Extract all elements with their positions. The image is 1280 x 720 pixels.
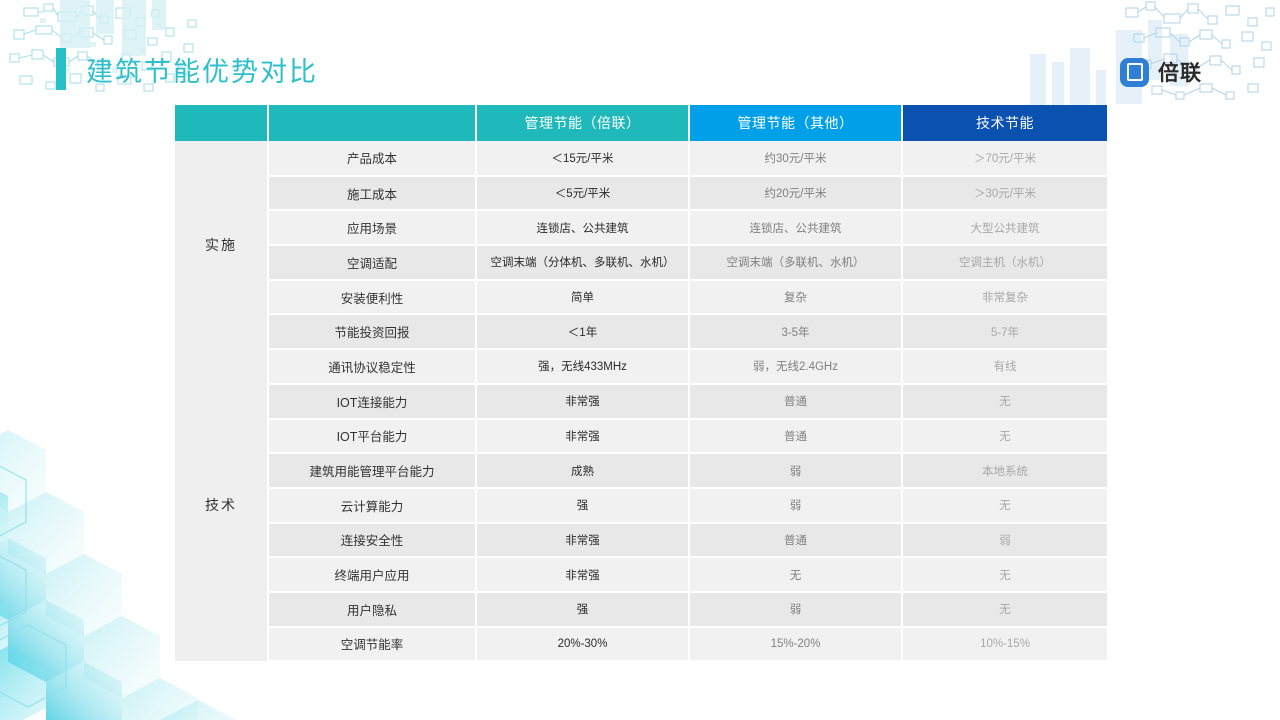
cell-technical: 5-7年 [902,314,1107,349]
cell-technical: 大型公共建筑 [902,210,1107,245]
cell-technical: 无 [902,488,1107,523]
cell-other: 约20元/平米 [689,176,902,211]
table-row: 实施 产品成本 ＜15元/平米 约30元/平米 ＞70元/平米 [175,141,1107,176]
cell-other: 无 [689,557,902,592]
cell-beilian: 非常强 [476,523,689,558]
row-item-label: 连接安全性 [268,523,476,558]
row-item-label: 用户隐私 [268,592,476,627]
row-item-label: 空调节能率 [268,627,476,662]
cell-technical: 弱 [902,523,1107,558]
row-item-label: IOT平台能力 [268,419,476,454]
row-item-label: 通讯协议稳定性 [268,349,476,384]
header-cell-item-blank [268,105,476,141]
table-row: 建筑用能管理平台能力 成熟 弱 本地系统 [175,453,1107,488]
rounded-square-logo-icon [1120,58,1149,87]
cell-other: 弱 [689,453,902,488]
table-row: IOT平台能力 非常强 普通 无 [175,419,1107,454]
cell-technical: 本地系统 [902,453,1107,488]
group-label-implementation: 实施 [175,141,268,349]
cell-beilian: 强 [476,592,689,627]
cell-other: 3-5年 [689,314,902,349]
header-cell-technical: 技术节能 [902,105,1107,141]
cell-other: 弱，无线2.4GHz [689,349,902,384]
cell-beilian: 强，无线433MHz [476,349,689,384]
title-accent-bar [56,48,66,90]
cell-other: 连锁店、公共建筑 [689,210,902,245]
row-item-label: 安装便利性 [268,280,476,315]
page-title: 建筑节能优势对比 [86,50,318,89]
row-item-label: 节能投资回报 [268,314,476,349]
cell-technical: 10%-15% [902,627,1107,662]
cell-beilian: 成熟 [476,453,689,488]
table-header-row: 管理节能（倍联） 管理节能（其他） 技术节能 [175,105,1107,141]
row-item-label: 应用场景 [268,210,476,245]
row-item-label: 施工成本 [268,176,476,211]
cell-beilian: ＜15元/平米 [476,141,689,176]
table-row: 安装便利性 简单 复杂 非常复杂 [175,280,1107,315]
cell-technical: ＞30元/平米 [902,176,1107,211]
cell-other: 15%-20% [689,627,902,662]
row-item-label: 建筑用能管理平台能力 [268,453,476,488]
cell-beilian: 连锁店、公共建筑 [476,210,689,245]
table-row: 施工成本 ＜5元/平米 约20元/平米 ＞30元/平米 [175,176,1107,211]
cell-technical: 无 [902,419,1107,454]
cell-technical: 空调主机（水机） [902,245,1107,280]
cell-other: 普通 [689,523,902,558]
brand-logo: 倍联 [1120,57,1202,87]
table-row: 技术 通讯协议稳定性 强，无线433MHz 弱，无线2.4GHz 有线 [175,349,1107,384]
row-item-label: 产品成本 [268,141,476,176]
cell-technical: 无 [902,592,1107,627]
cell-other: 普通 [689,384,902,419]
cell-technical: 无 [902,557,1107,592]
cell-technical: 有线 [902,349,1107,384]
header-cell-group-blank [175,105,268,141]
cell-beilian: ＜1年 [476,314,689,349]
cell-beilian: ＜5元/平米 [476,176,689,211]
table-row: 云计算能力 强 弱 无 [175,488,1107,523]
cell-beilian: 非常强 [476,557,689,592]
cell-other: 弱 [689,488,902,523]
cell-technical: 非常复杂 [902,280,1107,315]
row-item-label: IOT连接能力 [268,384,476,419]
brand-name: 倍联 [1158,57,1202,87]
header-cell-other: 管理节能（其他） [689,105,902,141]
table-row: 空调节能率 20%-30% 15%-20% 10%-15% [175,627,1107,662]
cell-other: 空调末端（多联机、水机） [689,245,902,280]
cell-other: 复杂 [689,280,902,315]
cell-other: 弱 [689,592,902,627]
table-row: 节能投资回报 ＜1年 3-5年 5-7年 [175,314,1107,349]
cell-technical: 无 [902,384,1107,419]
table-row: 空调适配 空调末端（分体机、多联机、水机） 空调末端（多联机、水机） 空调主机（… [175,245,1107,280]
row-item-label: 空调适配 [268,245,476,280]
table-body: 实施 产品成本 ＜15元/平米 约30元/平米 ＞70元/平米 施工成本 ＜5元… [175,141,1107,661]
row-item-label: 终端用户应用 [268,557,476,592]
comparison-table-wrapper: 管理节能（倍联） 管理节能（其他） 技术节能 实施 产品成本 ＜15元/平米 约… [175,105,1107,662]
cell-beilian: 强 [476,488,689,523]
table-row: 用户隐私 强 弱 无 [175,592,1107,627]
cell-beilian: 非常强 [476,384,689,419]
cell-beilian: 20%-30% [476,627,689,662]
row-item-label: 云计算能力 [268,488,476,523]
cell-beilian: 非常强 [476,419,689,454]
comparison-table: 管理节能（倍联） 管理节能（其他） 技术节能 实施 产品成本 ＜15元/平米 约… [175,105,1107,662]
cell-technical: ＞70元/平米 [902,141,1107,176]
group-label-technology: 技术 [175,349,268,661]
cell-other: 约30元/平米 [689,141,902,176]
table-row: IOT连接能力 非常强 普通 无 [175,384,1107,419]
cell-beilian: 简单 [476,280,689,315]
table-row: 连接安全性 非常强 普通 弱 [175,523,1107,558]
cell-beilian: 空调末端（分体机、多联机、水机） [476,245,689,280]
table-row: 终端用户应用 非常强 无 无 [175,557,1107,592]
header-cell-beilian: 管理节能（倍联） [476,105,689,141]
cell-other: 普通 [689,419,902,454]
table-row: 应用场景 连锁店、公共建筑 连锁店、公共建筑 大型公共建筑 [175,210,1107,245]
